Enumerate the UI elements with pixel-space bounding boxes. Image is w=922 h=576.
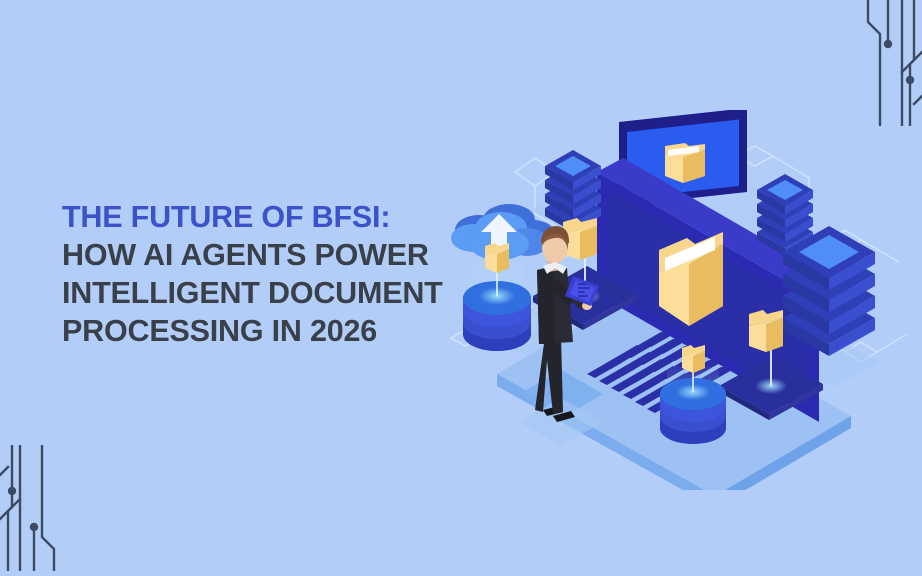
headline-line-1: THE FUTURE OF BFSI: — [62, 202, 482, 233]
circuit-traces-icon-bottom-left — [0, 445, 64, 576]
page-title: THE FUTURE OF BFSI: HOW AI AGENTS POWER … — [62, 202, 482, 354]
folder-icon-monitor — [665, 143, 705, 183]
folder-icon-tablet-lower-right — [749, 310, 783, 352]
folder-icon-database-bottom — [682, 345, 705, 373]
headline-line-4: PROCESSING IN 2026 — [62, 316, 482, 347]
banner-root: THE FUTURE OF BFSI: HOW AI AGENTS POWER … — [0, 0, 922, 576]
isometric-document-processing-illustration — [437, 110, 922, 490]
headline-line-3: INTELLIGENT DOCUMENT — [62, 278, 482, 309]
headline-line-2: HOW AI AGENTS POWER — [62, 240, 482, 271]
folder-icon-database-left — [485, 243, 509, 273]
database-cylinder-left — [463, 243, 531, 351]
server-stack-right-large — [783, 226, 875, 356]
